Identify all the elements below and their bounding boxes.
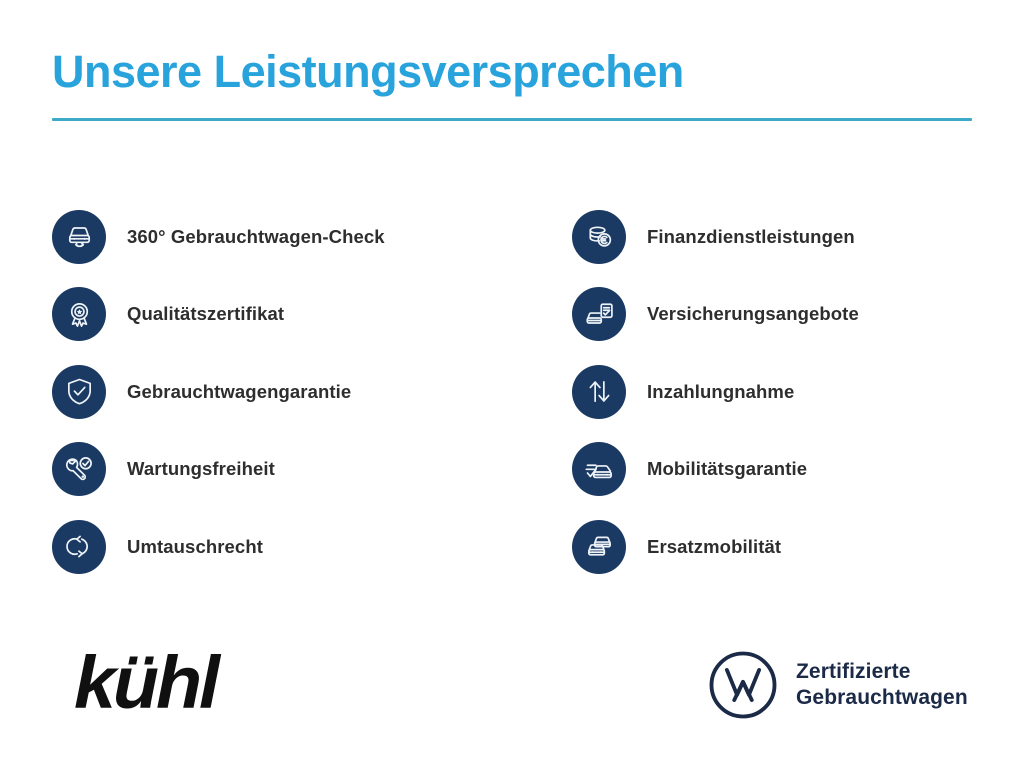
feature-label: Qualitätszertifikat	[127, 303, 284, 325]
vw-caption-line1: Zertifizierte	[796, 660, 911, 683]
vw-caption-line2: Gebrauchtwagen	[796, 686, 968, 709]
arrows-up-down-icon	[572, 365, 626, 419]
feature-item-inzahlungnahme: Inzahlungnahme	[572, 353, 982, 431]
vw-caption: Zertifizierte Gebrauchtwagen	[796, 659, 968, 710]
feature-label: Inzahlungnahme	[647, 381, 794, 403]
car-front-check-icon	[52, 210, 106, 264]
page-title: Unsere Leistungsversprechen	[52, 48, 972, 97]
feature-item-qualitaetszertifikat: Qualitätszertifikat	[52, 276, 572, 354]
car-speed-icon	[572, 442, 626, 496]
feature-item-gebrauchtwagengarantie: Gebrauchtwagengarantie	[52, 353, 572, 431]
feature-item-umtauschrecht: Umtauschrecht	[52, 508, 572, 586]
header: Unsere Leistungsversprechen	[52, 48, 972, 121]
coins-euro-icon	[572, 210, 626, 264]
feature-label: Finanzdienstleistungen	[647, 226, 855, 248]
volkswagen-logo	[708, 650, 778, 720]
slide-root: Unsere Leistungsversprechen 360° Gebr	[0, 0, 1024, 768]
footer: kühl Zertifizierte Gebrauchtwagen	[0, 628, 1024, 748]
two-cars-icon	[572, 520, 626, 574]
feature-item-ersatzmobilitaet: Ersatzmobilität	[572, 508, 982, 586]
feature-item-mobilitaetsgarantie: Mobilitätsgarantie	[572, 431, 982, 509]
shield-check-icon	[52, 365, 106, 419]
feature-item-finanzdienstleistungen: Finanzdienstleistungen	[572, 198, 982, 276]
wrench-check-icon	[52, 442, 106, 496]
feature-label: Ersatzmobilität	[647, 536, 781, 558]
feature-label: Mobilitätsgarantie	[647, 458, 807, 480]
feature-label: Gebrauchtwagengarantie	[127, 381, 351, 403]
vw-certified-badge: Zertifizierte Gebrauchtwagen	[708, 650, 968, 720]
exchange-arrows-icon	[52, 520, 106, 574]
feature-label: Umtauschrecht	[127, 536, 263, 558]
feature-grid: 360° Gebrauchtwagen-Check Finanzdienstle…	[52, 198, 982, 586]
feature-item-360-check: 360° Gebrauchtwagen-Check	[52, 198, 572, 276]
car-document-icon	[572, 287, 626, 341]
feature-item-wartungsfreiheit: Wartungsfreiheit	[52, 431, 572, 509]
title-divider	[52, 118, 972, 121]
feature-label: Versicherungsangebote	[647, 303, 859, 325]
feature-label: Wartungsfreiheit	[127, 458, 275, 480]
feature-label: 360° Gebrauchtwagen-Check	[127, 226, 385, 248]
award-badge-icon	[52, 287, 106, 341]
dealer-logo-kuehl: kühl	[74, 646, 217, 720]
feature-item-versicherungsangebote: Versicherungsangebote	[572, 276, 982, 354]
